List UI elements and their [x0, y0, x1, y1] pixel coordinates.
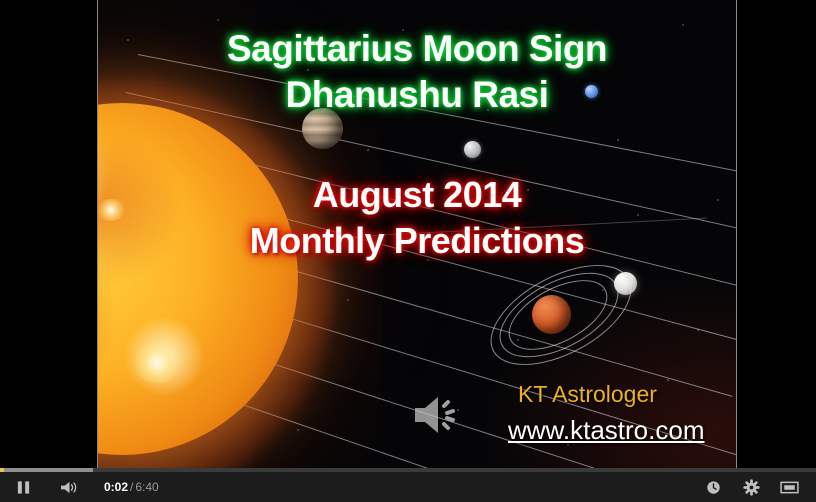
player-controls: 0:02/6:40	[0, 468, 816, 502]
video-subtitle-line-2: Monthly Predictions	[98, 220, 736, 262]
brand-url: www.ktastro.com	[508, 415, 705, 446]
pause-button[interactable]	[4, 472, 42, 502]
video-stage[interactable]: Sagittarius Moon Sign Dhanushu Rasi Augu…	[0, 0, 816, 468]
brand-name: KT Astrologer	[518, 381, 657, 408]
video-title-line-1: Sagittarius Moon Sign	[98, 28, 736, 70]
planet-gray	[464, 141, 481, 158]
volume-button[interactable]	[50, 472, 88, 502]
video-player: Sagittarius Moon Sign Dhanushu Rasi Augu…	[0, 0, 816, 502]
video-frame[interactable]: Sagittarius Moon Sign Dhanushu Rasi Augu…	[97, 0, 737, 468]
video-subtitle-line-1: August 2014	[98, 174, 736, 216]
settings-button[interactable]	[732, 472, 770, 502]
watch-later-icon	[706, 480, 721, 495]
volume-icon	[60, 480, 79, 495]
total-time: 6:40	[135, 480, 158, 494]
solar-flare	[132, 343, 182, 383]
fullscreen-icon	[780, 480, 799, 495]
speaker-icon	[411, 393, 463, 437]
video-title-line-2: Dhanushu Rasi	[98, 74, 736, 116]
right-controls	[694, 472, 808, 502]
planet-saturn	[532, 295, 571, 334]
controls-row: 0:02/6:40	[0, 472, 816, 502]
time-display: 0:02/6:40	[104, 480, 159, 494]
fullscreen-button[interactable]	[770, 472, 808, 502]
pause-icon	[16, 480, 31, 495]
watch-later-button[interactable]	[694, 472, 732, 502]
gear-icon	[743, 479, 760, 496]
current-time: 0:02	[104, 480, 128, 494]
